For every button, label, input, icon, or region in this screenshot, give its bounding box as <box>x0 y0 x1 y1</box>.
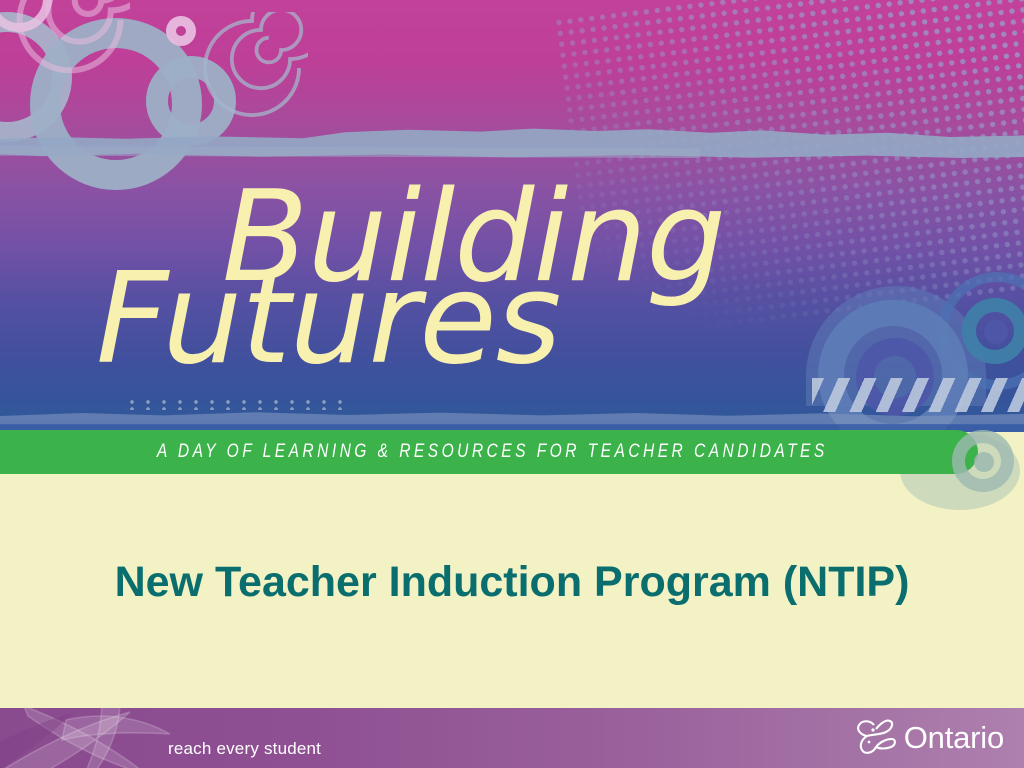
page-title: New Teacher Induction Program (NTIP) <box>0 558 1024 607</box>
footer-tagline: reach every student <box>168 739 321 759</box>
slide-body: New Teacher Induction Program (NTIP) <box>0 474 1024 708</box>
ring-decoration <box>166 16 196 46</box>
ontario-logo-lockup: Ontario <box>853 718 1004 758</box>
trillium-icon <box>853 718 897 758</box>
slide-footer: reach every student Ontario <box>0 708 1024 768</box>
trillium-swoosh-decoration <box>0 708 300 768</box>
diagonal-stripes-decoration <box>812 378 1024 412</box>
header-artwork <box>0 0 1024 432</box>
tagline-banner: A DAY OF LEARNING & RESOURCES FOR TEACHE… <box>0 430 978 474</box>
spiral-decoration <box>10 0 130 80</box>
ring-decoration <box>974 452 994 472</box>
ontario-wordmark: Ontario <box>904 720 1004 756</box>
tagline-text: A DAY OF LEARNING & RESOURCES FOR TEACHE… <box>150 441 827 463</box>
ring-decoration <box>984 320 1008 344</box>
brush-speckles-decoration <box>130 400 350 410</box>
presentation-slide: Building Futures A DAY OF LEARNING & RES… <box>0 0 1024 768</box>
spiral-decoration <box>196 12 308 124</box>
